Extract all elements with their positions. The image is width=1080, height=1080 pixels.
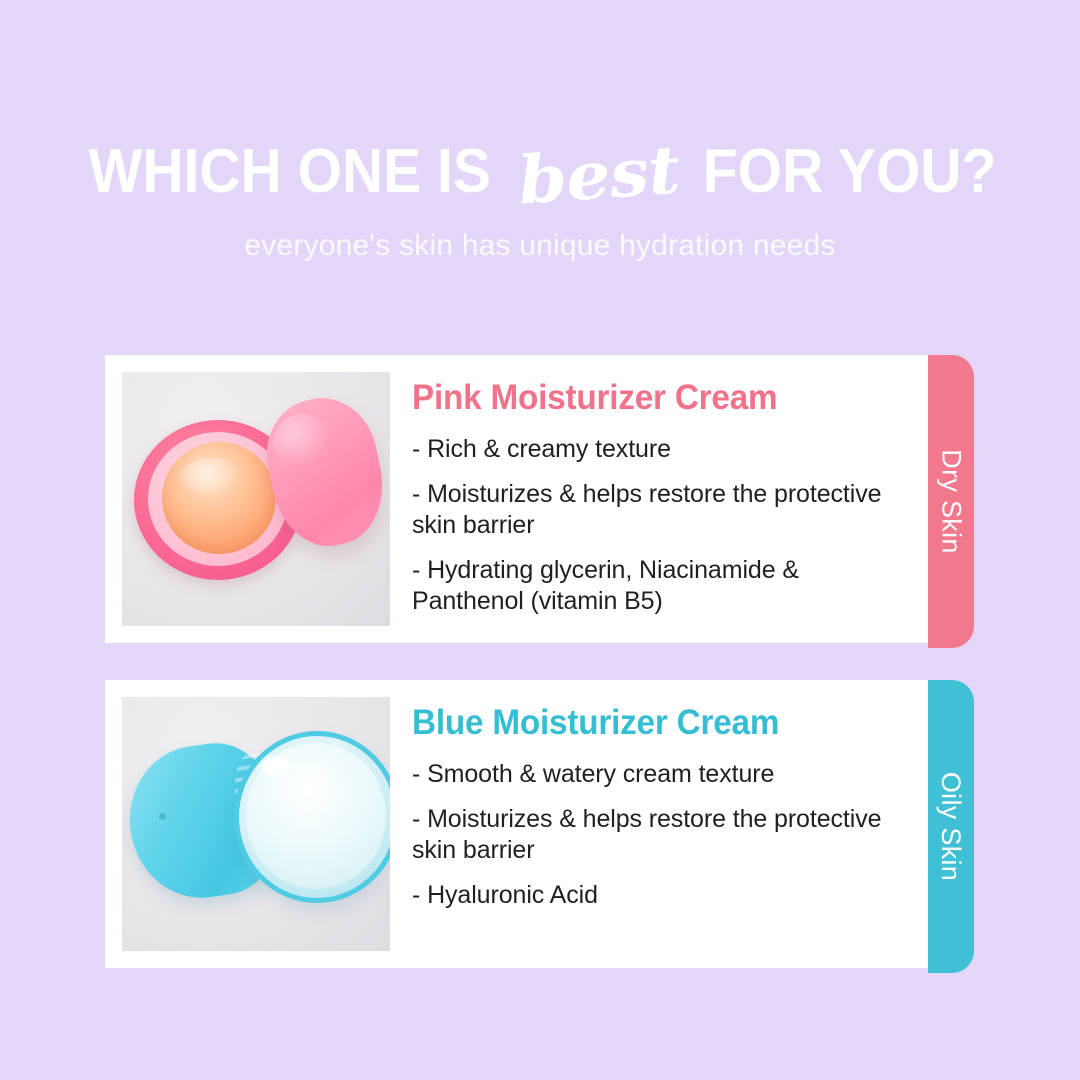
product-title-pink: Pink Moisturizer Cream [412,378,887,418]
product-details-pink: Pink Moisturizer Cream - Rich & creamy t… [390,372,930,617]
product-details-blue: Blue Moisturizer Cream - Smooth & watery… [390,697,930,911]
header: WHICH ONE IS best FOR YOU? everyone's sk… [0,0,1080,263]
product-feature: - Hydrating glycerin, Niacinamide & Pant… [412,555,912,617]
product-feature: - Rich & creamy texture [412,434,912,465]
blue-gel-icon [246,743,386,889]
product-feature: - Moisturizes & helps restore the protec… [412,804,912,866]
page-title: WHICH ONE IS best FOR YOU? [0,0,1080,203]
product-card-pink[interactable]: Pink Moisturizer Cream - Rich & creamy t… [105,355,930,643]
headline-before: WHICH ONE IS [88,141,490,203]
product-feature: - Moisturizes & helps restore the protec… [412,479,912,541]
skin-type-tab-label: Oily Skin [936,772,967,881]
skin-type-tab-dry[interactable]: Dry Skin [928,355,974,648]
product-feature: - Hyaluronic Acid [412,880,912,911]
skin-type-tab-label: Dry Skin [936,449,967,553]
product-card-blue[interactable]: Blue Moisturizer Cream - Smooth & watery… [105,680,930,968]
product-image-pink [122,372,390,626]
page-subtitle: everyone's skin has unique hydration nee… [0,203,1080,263]
product-feature: - Smooth & watery cream texture [412,759,912,790]
headline-after: FOR YOU? [703,141,997,203]
product-title-blue: Blue Moisturizer Cream [412,703,887,743]
product-image-blue [122,697,390,951]
pink-cream-icon [162,442,276,554]
skin-type-tab-oily[interactable]: Oily Skin [928,680,974,973]
